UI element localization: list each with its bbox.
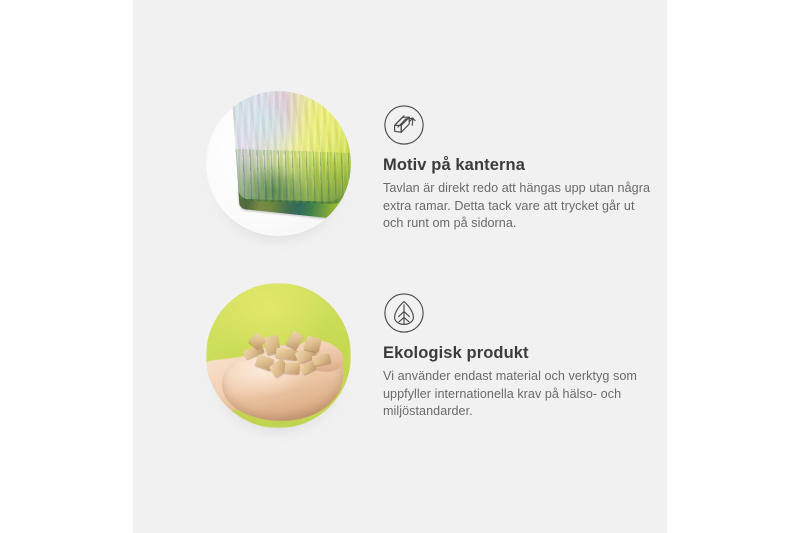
feature-description: Vi använder endast material och verktyg … (383, 368, 653, 421)
paint-drip-texture (235, 149, 351, 205)
eco-photo-scene (206, 283, 351, 428)
canvas-print-scene (206, 91, 351, 236)
leaf-icon (383, 292, 425, 334)
feature-title: Motiv på kanterna (383, 155, 653, 175)
photo-circle-mask (206, 91, 351, 236)
feature-title: Ekologisk produkt (383, 343, 653, 363)
canvas-front-artwork (231, 91, 351, 203)
feature-copy: Motiv på kanterna Tavlan är direkt redo … (383, 104, 653, 233)
feature-block-motiv-pa-kanterna: Motiv på kanterna Tavlan är direkt redo … (133, 0, 667, 266)
feature-block-ekologisk-produkt: Ekologisk produkt Vi använder endast mat… (133, 266, 667, 533)
hands-holding-wood-chips-photo (206, 283, 351, 428)
photo-circle-mask (206, 283, 351, 428)
feature-copy: Ekologisk produkt Vi använder endast mat… (383, 292, 653, 421)
wood-chips-pile (238, 326, 336, 386)
canvas-print-object (231, 91, 351, 230)
canvas-print-corner-photo (206, 91, 351, 236)
product-feature-banner: Motiv på kanterna Tavlan är direkt redo … (0, 0, 800, 533)
feature-description: Tavlan är direkt redo att hängas upp uta… (383, 180, 653, 233)
canvas-wrapped-edge-icon (383, 104, 425, 146)
